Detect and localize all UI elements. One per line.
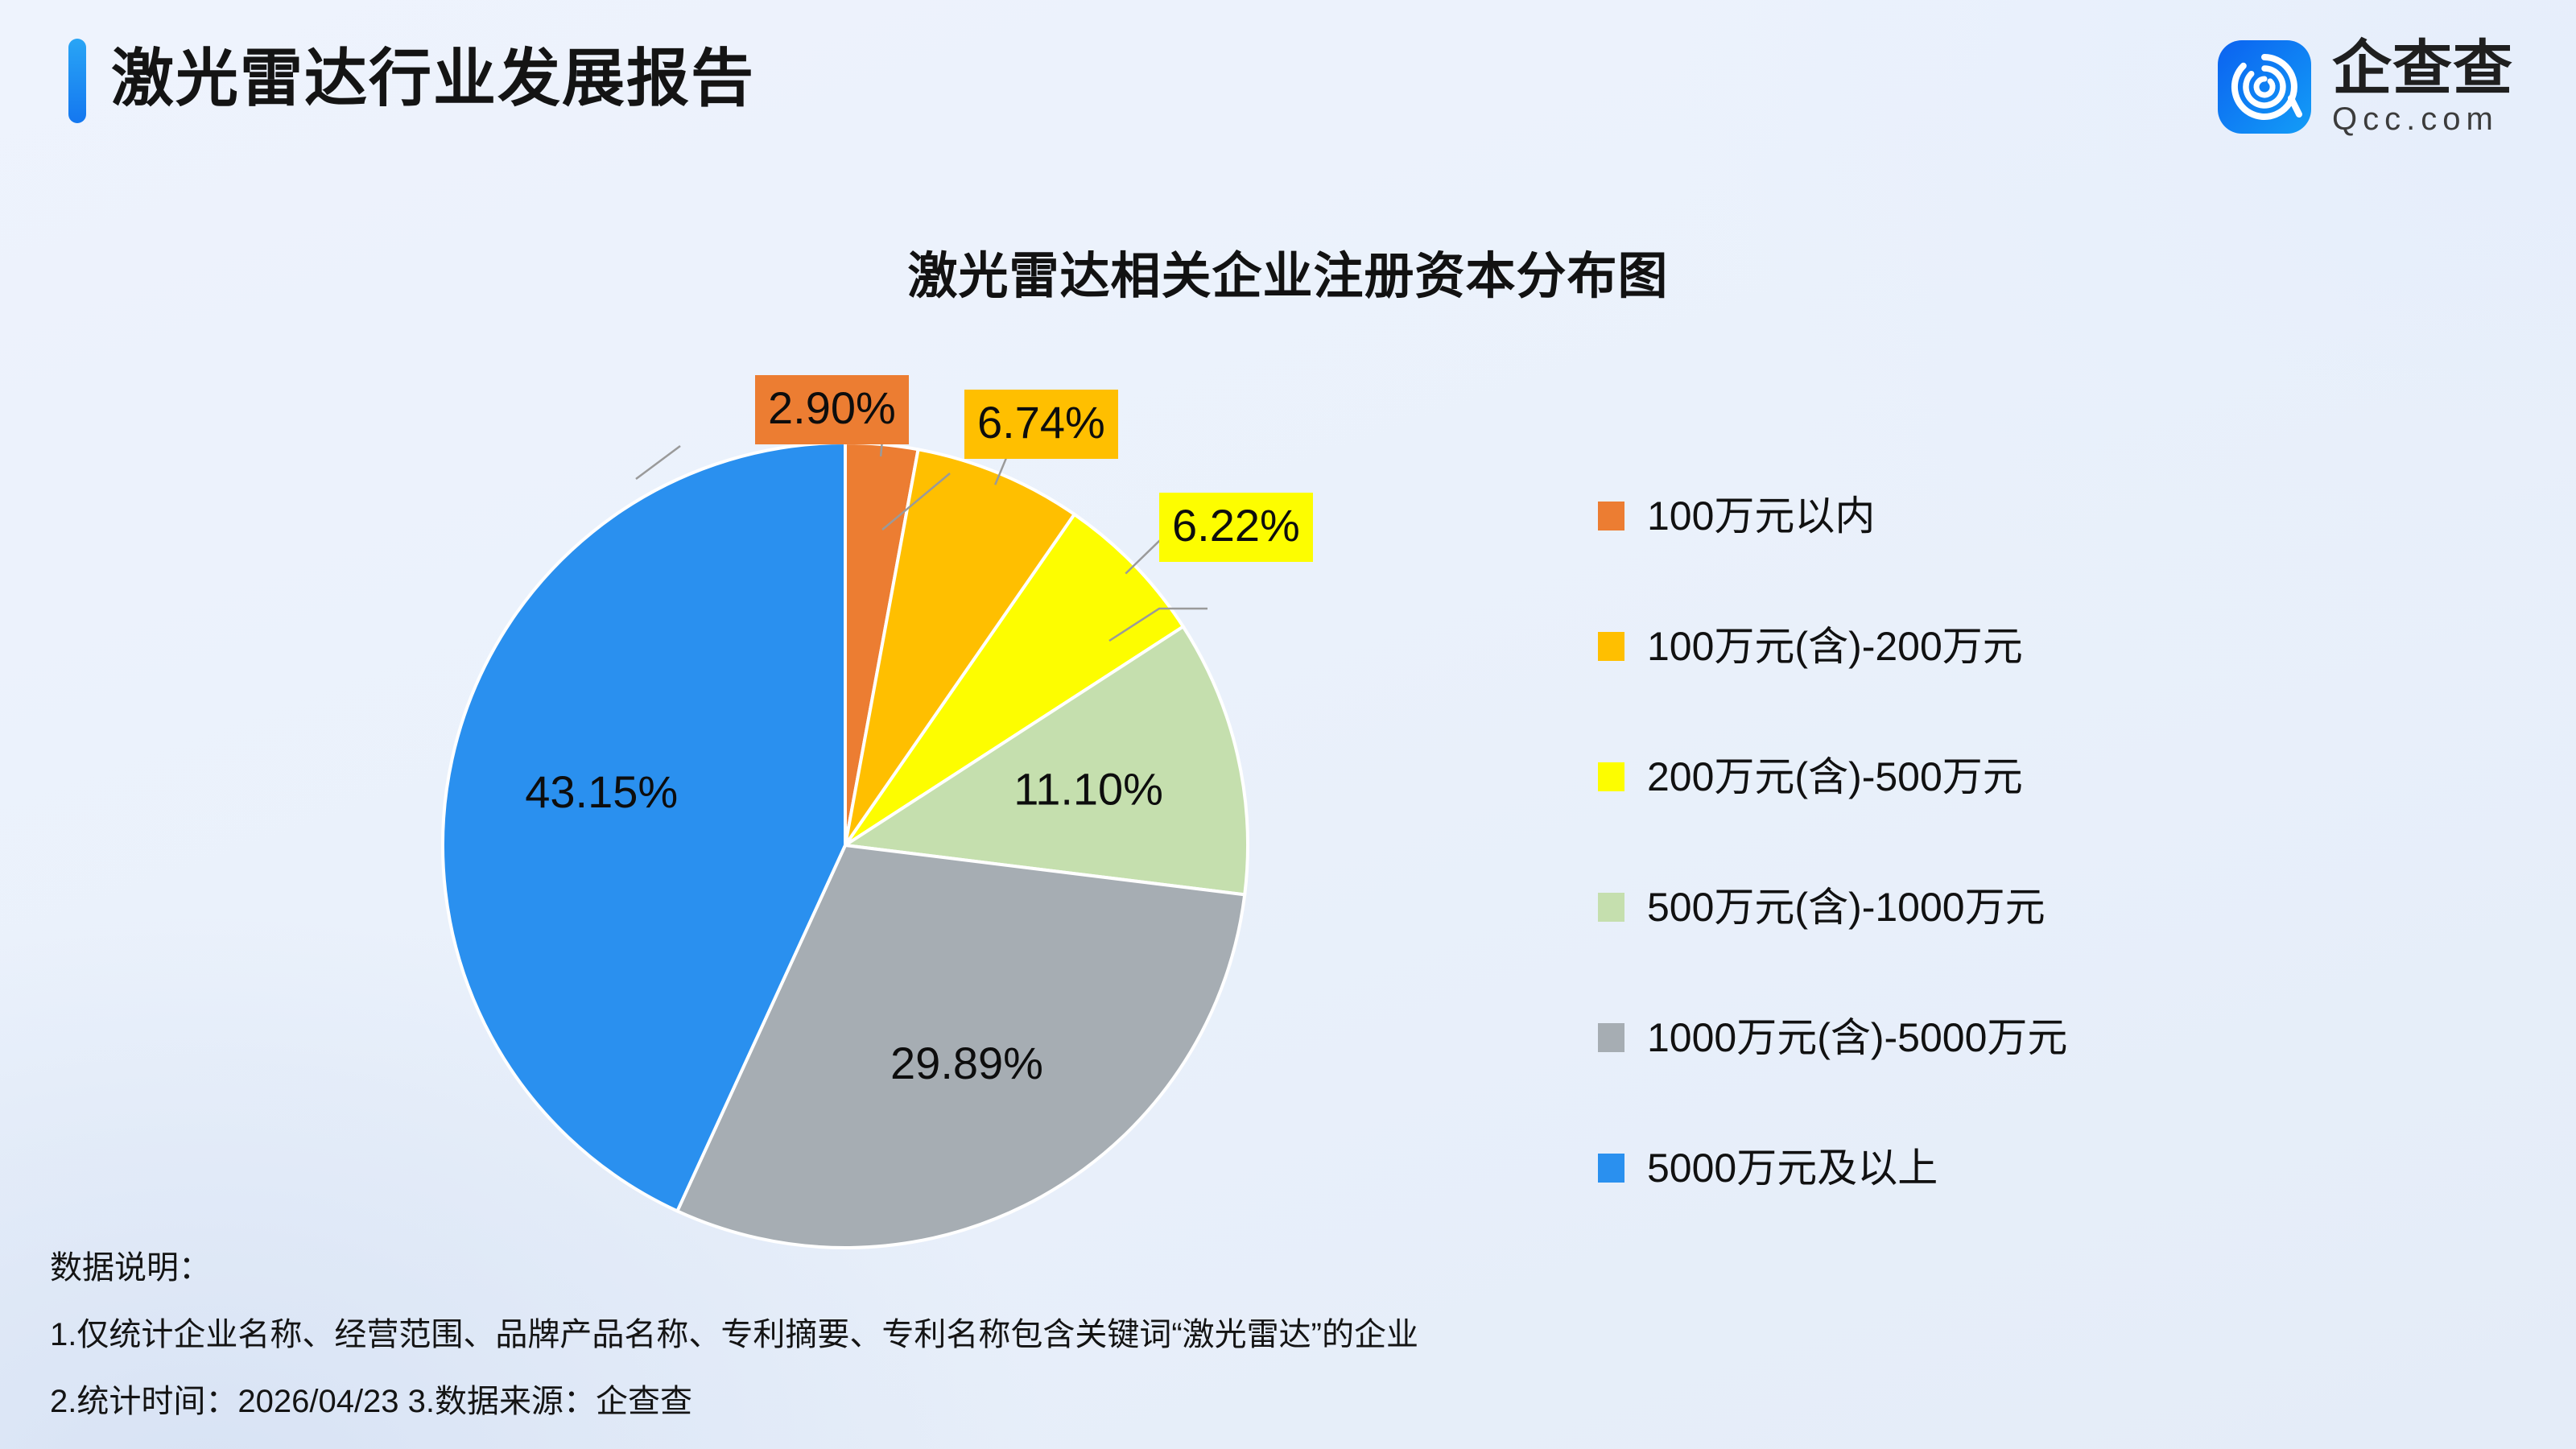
legend-swatch-0	[1598, 502, 1624, 530]
legend-swatch-3	[1598, 893, 1624, 922]
pie-callout-0-value: 2.90%	[768, 382, 896, 433]
notes-line-1: 1.仅统计企业名称、经营范围、品牌产品名称、专利摘要、专利名称包含关键词“激光雷…	[50, 1319, 1982, 1351]
brand-logo: 企查查 Qcc.com	[2218, 39, 2513, 135]
legend-swatch-1	[1598, 632, 1624, 661]
pie-leader-elbow-0	[636, 446, 680, 479]
pie-chart: 11.10%29.89%43.15%	[435, 435, 1256, 1256]
pie-slice-group	[443, 443, 1248, 1248]
notes-line-2: 2.统计时间：2026/04/23 3.数据来源：企查查	[50, 1385, 1982, 1418]
pie-callout-1-value: 6.74%	[977, 397, 1105, 448]
pie-callout-0: 2.90%	[755, 375, 909, 444]
legend-item-1[interactable]: 100万元(含)-200万元	[1598, 613, 2387, 679]
brand-text: 企查查 Qcc.com	[2332, 36, 2513, 138]
title-accent-bar	[68, 39, 86, 123]
legend-label-1: 100万元(含)-200万元	[1647, 626, 2023, 667]
brand-name-cn: 企查查	[2332, 36, 2513, 101]
legend-item-4[interactable]: 1000万元(含)-5000万元	[1598, 1005, 2387, 1071]
legend-swatch-4	[1598, 1023, 1624, 1052]
data-notes: 数据说明： 1.仅统计企业名称、经营范围、品牌产品名称、专利摘要、专利名称包含关…	[50, 1252, 1982, 1449]
report-page: 激光雷达行业发展报告 企查查 Qcc.com 激光雷达相关企业注册资本分布图	[0, 0, 2576, 1449]
pie-inner-label-3: 11.10%	[1013, 764, 1163, 815]
qcc-spiral-logo-icon	[2218, 40, 2311, 134]
legend-label-3: 500万元(含)-1000万元	[1647, 887, 2046, 927]
legend-item-2[interactable]: 200万元(含)-500万元	[1598, 744, 2387, 810]
legend-swatch-2	[1598, 762, 1624, 791]
page-header: 激光雷达行业发展报告 企查查 Qcc.com	[0, 0, 2576, 185]
brand-name-en: Qcc.com	[2332, 101, 2513, 138]
legend-label-2: 200万元(含)-500万元	[1647, 757, 2023, 797]
chart-title: 激光雷达相关企业注册资本分布图	[0, 235, 2576, 308]
legend-label-4: 1000万元(含)-5000万元	[1647, 1018, 2067, 1058]
pie-callout-1: 6.74%	[964, 390, 1118, 459]
pie-callout-2: 6.22%	[1159, 493, 1313, 562]
legend-label-5: 5000万元及以上	[1647, 1148, 1938, 1188]
legend-item-0[interactable]: 100万元以内	[1598, 483, 2387, 549]
legend-swatch-5	[1598, 1154, 1624, 1183]
legend-label-0: 100万元以内	[1647, 496, 1875, 536]
pie-callout-2-value: 6.22%	[1172, 500, 1300, 551]
pie-inner-label-4: 29.89%	[890, 1038, 1043, 1088]
pie-inner-label-5: 43.15%	[525, 766, 678, 817]
chart-legend: 100万元以内100万元(含)-200万元200万元(含)-500万元500万元…	[1598, 483, 2387, 1265]
legend-item-3[interactable]: 500万元(含)-1000万元	[1598, 874, 2387, 940]
legend-item-5[interactable]: 5000万元及以上	[1598, 1135, 2387, 1201]
page-title: 激光雷达行业发展报告	[111, 31, 755, 126]
notes-heading: 数据说明：	[50, 1252, 1982, 1284]
